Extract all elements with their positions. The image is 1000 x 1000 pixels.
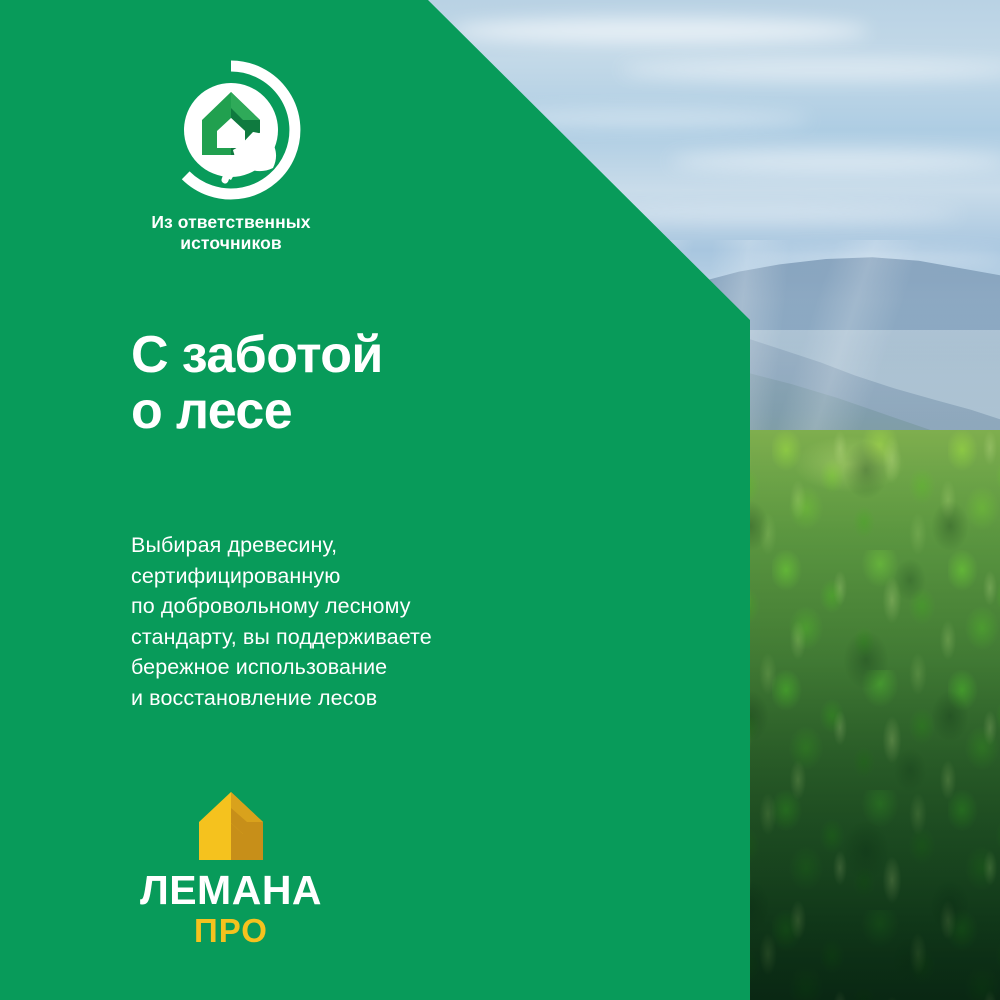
- body-line-2: сертифицированную: [131, 561, 691, 592]
- brand-name: ЛЕМАНА: [131, 870, 331, 911]
- certification-caption: Из ответственных источников: [131, 212, 331, 255]
- house-leaf-circle-icon: [161, 60, 301, 200]
- headline-line2: о лесе: [131, 383, 691, 439]
- poster-root: Из ответственных источников С заботой о …: [0, 0, 1000, 1000]
- body-text: Выбирая древесину, сертифицированную по …: [131, 530, 691, 713]
- certification-caption-line1: Из ответственных: [151, 212, 310, 232]
- certification-caption-line2: источников: [180, 233, 282, 253]
- certification-badge: Из ответственных источников: [131, 60, 331, 255]
- body-line-5: бережное использование: [131, 652, 691, 683]
- page-title: С заботой о лесе: [131, 327, 691, 439]
- headline-line1: С заботой: [131, 327, 691, 383]
- house-logo-icon: [194, 790, 268, 862]
- body-line-3: по добровольному лесному: [131, 591, 691, 622]
- brand-subtitle: ПРО: [131, 914, 331, 947]
- brand-logo: ЛЕМАНА ПРО: [131, 790, 331, 947]
- body-line-6: и восстановление лесов: [131, 683, 691, 714]
- content-column: Из ответственных источников С заботой о …: [0, 0, 750, 1000]
- body-line-4: стандарту, вы поддерживаете: [131, 622, 691, 653]
- body-line-1: Выбирая древесину,: [131, 530, 691, 561]
